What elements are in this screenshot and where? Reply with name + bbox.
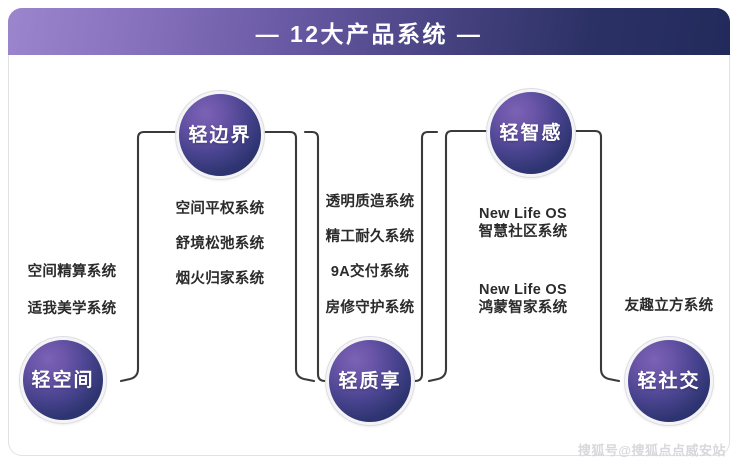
node-label: 轻社交 (637, 372, 700, 391)
leaf-item: 友趣立方系统 (625, 294, 714, 315)
leaf-item: 透明质造系统 (326, 190, 415, 211)
leaf-line-2: 智慧社区系统 (479, 223, 568, 241)
node-label: 轻智感 (499, 124, 562, 143)
node-circle-light-intellect[interactable]: 轻智感 (487, 89, 575, 177)
leaf-item: 房修守护系统 (326, 296, 415, 317)
leaf-line-1: 适我美学系统 (28, 301, 117, 317)
leaf-line-2: 鸿蒙智家系统 (479, 299, 568, 317)
leaf-line-1: 空间精算系统 (28, 264, 117, 280)
leaf-line-1: 空间平权系统 (176, 201, 265, 217)
watermark: 搜狐号@搜狐点点威安站 (578, 440, 726, 459)
leaf-line-1: 透明质造系统 (326, 194, 415, 210)
node-circle-light-social[interactable]: 轻社交 (625, 337, 713, 425)
leaf-item: 精工耐久系统 (326, 225, 415, 246)
node-label: 轻质享 (338, 372, 401, 391)
leaf-line-1: 友趣立方系统 (625, 298, 714, 314)
leaf-item: New Life OS 智慧社区系统 (479, 205, 568, 241)
leaf-line-1: 舒境松弛系统 (176, 236, 265, 252)
leaf-item: 舒境松弛系统 (176, 232, 265, 253)
leaf-item: 9A交付系统 (331, 260, 409, 281)
leaf-item: 适我美学系统 (28, 297, 117, 318)
leaf-line-1: 精工耐久系统 (326, 229, 415, 245)
leaf-item: 空间精算系统 (28, 260, 117, 281)
leaf-item: 烟火归家系统 (176, 267, 265, 288)
page-title: — 12大产品系统 — (256, 15, 483, 49)
leaf-line-1: 烟火归家系统 (176, 271, 265, 287)
node-circle-light-space[interactable]: 轻空间 (20, 337, 106, 423)
node-label: 轻边界 (188, 126, 251, 145)
leaf-line-1: New Life OS (479, 205, 568, 223)
leaf-line-1: 房修守护系统 (326, 300, 415, 316)
node-circle-light-boundary[interactable]: 轻边界 (176, 91, 264, 179)
infographic-page: — 12大产品系统 — 空间精算系统 适我美学系统 空间平权系统 舒境松弛系统 … (0, 0, 740, 467)
node-label: 轻空间 (31, 371, 94, 390)
leaf-item: 空间平权系统 (176, 197, 265, 218)
leaf-line-1: New Life OS (479, 281, 568, 299)
leaf-item: New Life OS 鸿蒙智家系统 (479, 281, 568, 317)
header-bar: — 12大产品系统 — (8, 8, 730, 55)
node-circle-light-quality[interactable]: 轻质享 (326, 337, 414, 425)
leaf-line-1: 9A交付系统 (331, 264, 409, 280)
